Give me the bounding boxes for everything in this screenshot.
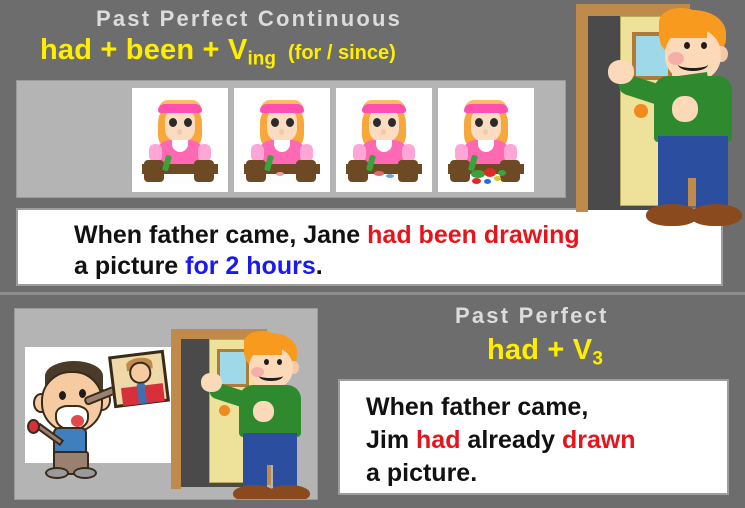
sentence2-line-1: When father came, — [366, 392, 588, 423]
formula-base: had + been + V — [40, 34, 248, 66]
past-perfect-formula: had + V3 — [487, 334, 603, 371]
past-perfect-continuous-heading: Past Perfect Continuous — [96, 6, 402, 32]
line1-highlight: had been drawing — [367, 221, 580, 249]
formula-hint: (for / since) — [288, 42, 396, 64]
boy-shows-drawing-panel — [14, 308, 318, 500]
sentence-line-1: When father came, Jane had been drawing — [74, 220, 580, 251]
sentence2-line-3: a picture. — [366, 458, 477, 489]
s2-line2-part1: Jim — [366, 426, 416, 454]
past-perfect-continuous-formula: had + been + Ving(for / since) — [40, 34, 396, 71]
father-at-door-illustration-bottom — [163, 327, 319, 499]
father-at-door-illustration-top — [560, 0, 745, 232]
line2-period: . — [316, 252, 323, 280]
girl-drawing-stage-3 — [336, 88, 432, 192]
line2-part1: a picture — [74, 252, 185, 280]
s2-line3: a picture. — [366, 459, 477, 487]
sentence-line-2: a picture for 2 hours. — [74, 251, 323, 282]
line2-highlight: for 2 hours — [185, 252, 316, 280]
formula2-subscript: 3 — [592, 349, 603, 370]
section-divider — [0, 292, 745, 295]
formula2-base: had + V — [487, 334, 592, 366]
girl-drawing-stage-1 — [132, 88, 228, 192]
past-perfect-sentence-box: When father came, Jim had already drawn … — [338, 379, 729, 495]
formula-subscript: ing — [248, 49, 277, 70]
girl-drawing-stage-2 — [234, 88, 330, 192]
s2-highlight-had: had — [416, 426, 460, 454]
s2-highlight-drawn: drawn — [562, 426, 636, 454]
girl-drawing-stage-4 — [438, 88, 534, 192]
s2-line2-part2: already — [460, 426, 561, 454]
past-perfect-heading: Past Perfect — [455, 303, 609, 329]
s2-line1: When father came, — [366, 393, 588, 421]
girl-drawing-strip-panel — [16, 80, 566, 198]
line1-part1: When father came, Jane — [74, 221, 367, 249]
grammar-slide: Past Perfect Continuous had + been + Vin… — [0, 0, 745, 508]
sentence2-line-2: Jim had already drawn — [366, 425, 636, 456]
